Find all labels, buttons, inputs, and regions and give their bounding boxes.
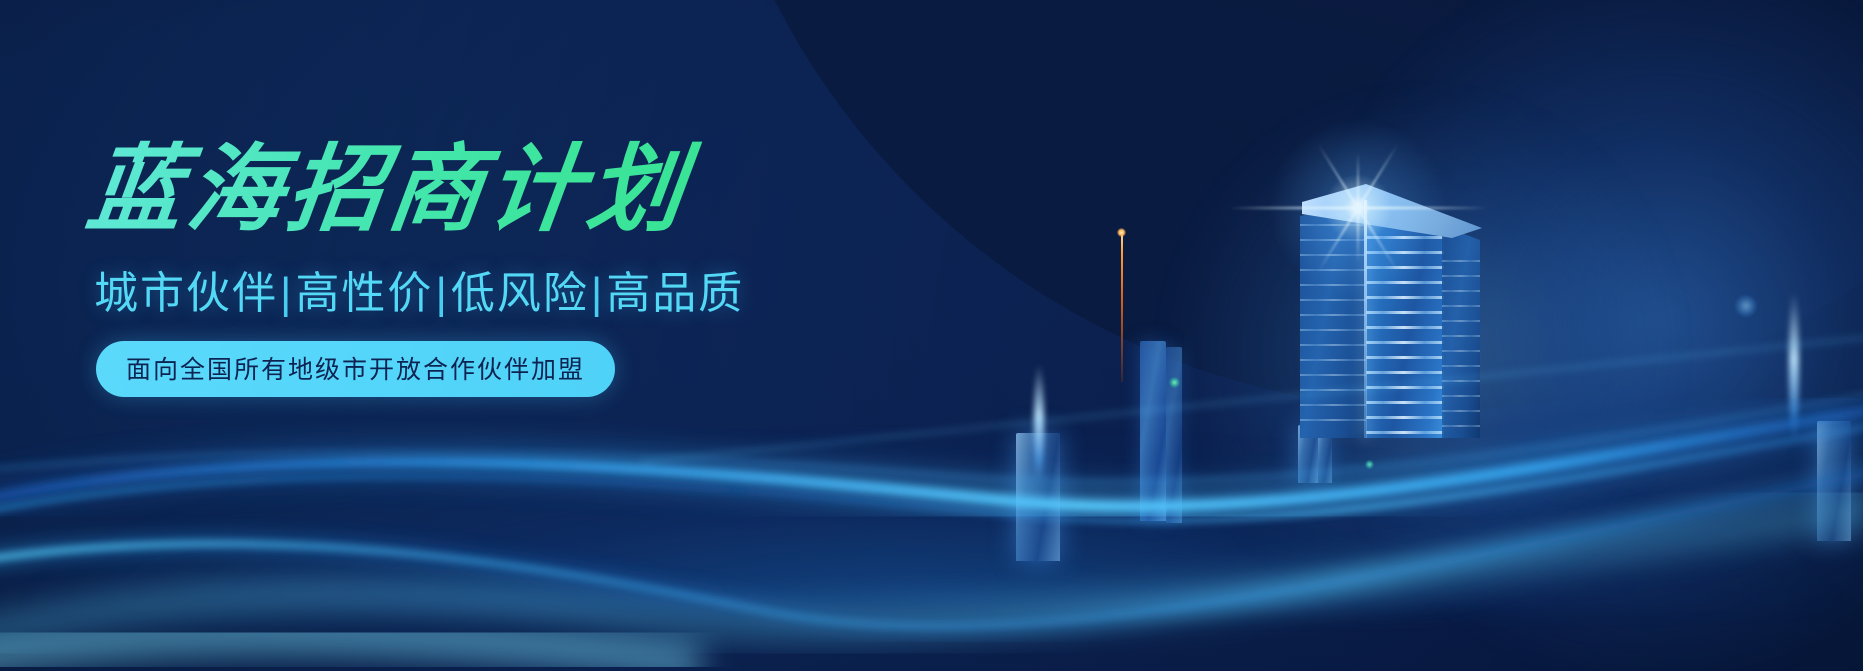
subtitle-part-4: 高品质 bbox=[606, 269, 744, 318]
subtitle-separator-2: | bbox=[433, 269, 450, 318]
subtitle-separator-1: | bbox=[278, 269, 295, 318]
promo-banner: 蓝海招商计划 城市伙伴|高性价|低风险|高品质 面向全国所有地级市开放合作伙伴加… bbox=[0, 0, 1863, 671]
copy-block: 蓝海招商计划 城市伙伴|高性价|低风险|高品质 面向全国所有地级市开放合作伙伴加… bbox=[88, 140, 848, 397]
subtitle-part-3: 低风险 bbox=[451, 269, 589, 318]
page-title: 蓝海招商计划 bbox=[82, 140, 854, 241]
subtitle-separator-3: | bbox=[589, 269, 606, 318]
subtitle-part-2: 高性价 bbox=[295, 269, 433, 318]
subtitle-part-1: 城市伙伴 bbox=[94, 269, 278, 318]
cta-badge[interactable]: 面向全国所有地级市开放合作伙伴加盟 bbox=[96, 341, 615, 397]
subtitle: 城市伙伴|高性价|低风险|高品质 bbox=[94, 257, 848, 321]
